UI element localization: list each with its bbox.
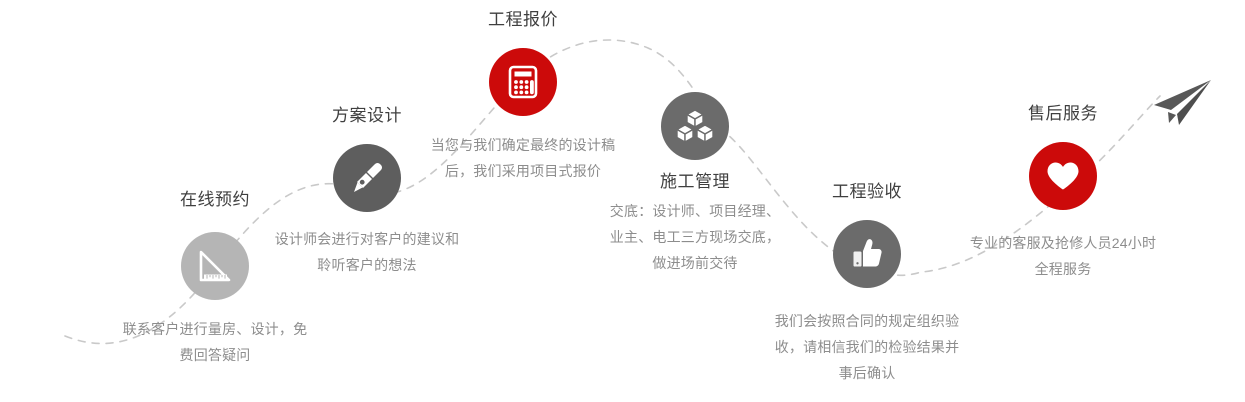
fountain-pen-icon (333, 144, 401, 212)
thumbs-up-icon (833, 220, 901, 288)
flow-step-5-title: 工程验收 (772, 182, 962, 202)
flow-step-5[interactable]: 工程验收 我们会按照合同的规定组织验收，请相信我们的检验结果并事后确认 (772, 182, 962, 386)
flow-step-3-title: 工程报价 (428, 10, 618, 30)
flow-step-4[interactable]: 施工管理 交底：设计师、项目经理、业主、电工三方现场交底，做进场前交待 (600, 92, 790, 276)
flow-step-6-title: 售后服务 (968, 104, 1158, 124)
flow-step-4-title: 施工管理 (600, 172, 790, 192)
flow-step-3-description: 当您与我们确定最终的设计稿后，我们采用项目式报价 (428, 132, 618, 184)
flow-step-2-description: 设计师会进行对客户的建议和聆听客户的想法 (272, 226, 462, 278)
flow-step-6[interactable]: 售后服务 专业的客服及抢修人员24小时全程服务 (968, 104, 1158, 282)
boxes-icon (661, 92, 729, 160)
calculator-icon (489, 48, 557, 116)
flow-step-6-description: 专业的客服及抢修人员24小时全程服务 (968, 230, 1158, 282)
triangle-ruler-icon (181, 232, 249, 300)
flow-step-5-description: 我们会按照合同的规定组织验收，请相信我们的检验结果并事后确认 (772, 308, 962, 386)
flow-step-4-description: 交底：设计师、项目经理、业主、电工三方现场交底，做进场前交待 (605, 198, 785, 276)
process-flow-diagram: 在线预约 联系客户进行量房、设计，免费回答疑问 方案设计 (0, 0, 1245, 402)
flow-step-3[interactable]: 工程报价 当您与我们确定最终的设计稿后，我们采用项目 (428, 10, 618, 184)
heart-icon (1029, 142, 1097, 210)
flow-step-1-description: 联系客户进行量房、设计，免费回答疑问 (120, 316, 310, 368)
